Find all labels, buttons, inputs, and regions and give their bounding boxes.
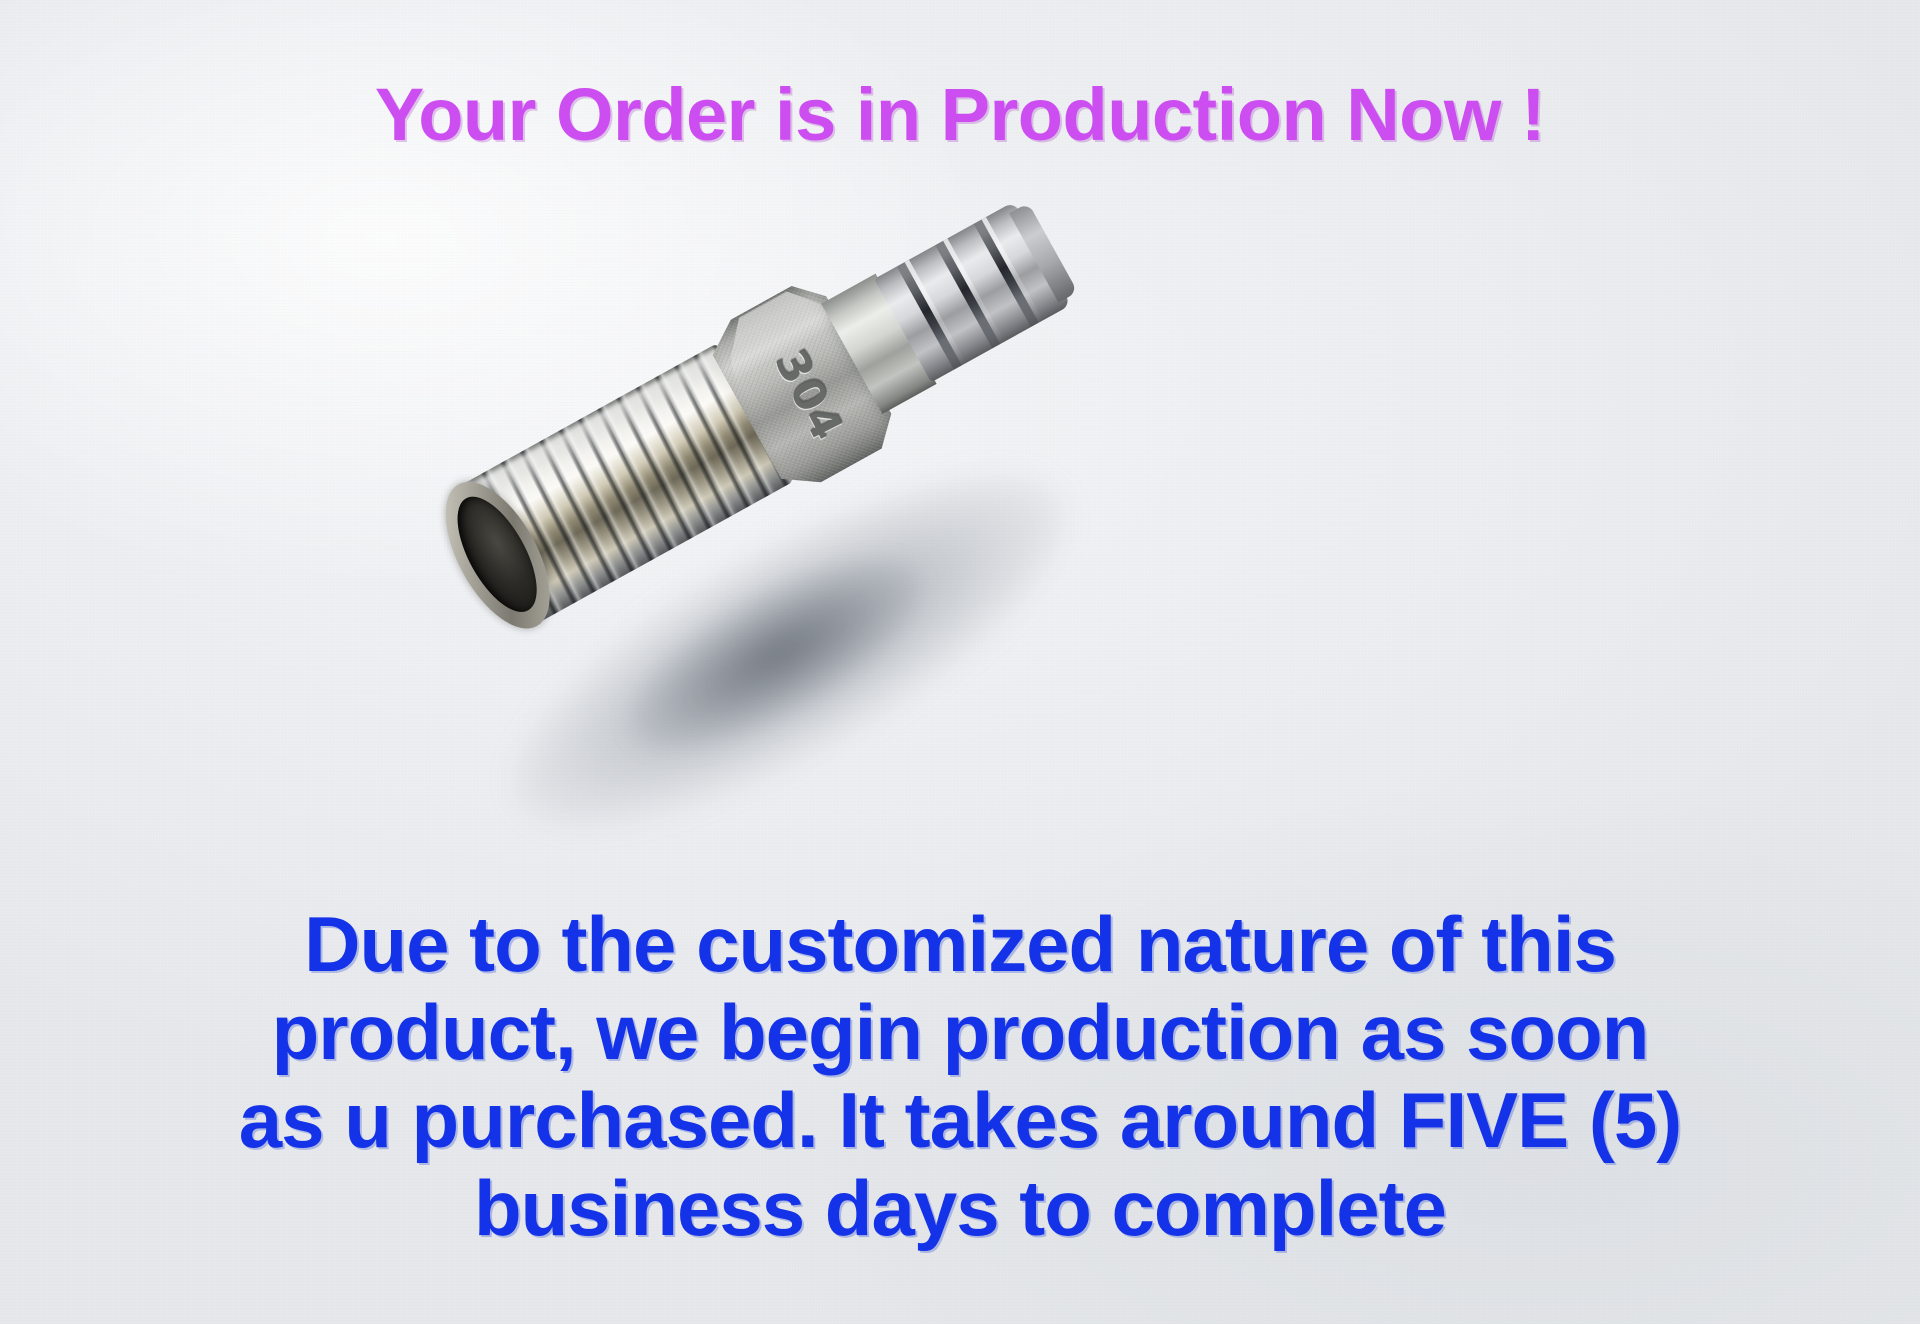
message-line-3: as u purchased. It takes around FIVE (5) bbox=[0, 1076, 1920, 1164]
promo-notice-page: Your Order is in Production Now ! 304 bbox=[0, 0, 1920, 1324]
message-line-4: business days to complete bbox=[0, 1164, 1920, 1252]
headline-order-in-production: Your Order is in Production Now ! bbox=[0, 72, 1920, 157]
message-line-2: product, we begin production as soon bbox=[0, 988, 1920, 1076]
production-lead-time-message: Due to the customized nature of this pro… bbox=[0, 900, 1920, 1253]
product-photo-hose-barb-fitting: 304 bbox=[440, 250, 1200, 810]
message-line-1: Due to the customized nature of this bbox=[0, 900, 1920, 988]
